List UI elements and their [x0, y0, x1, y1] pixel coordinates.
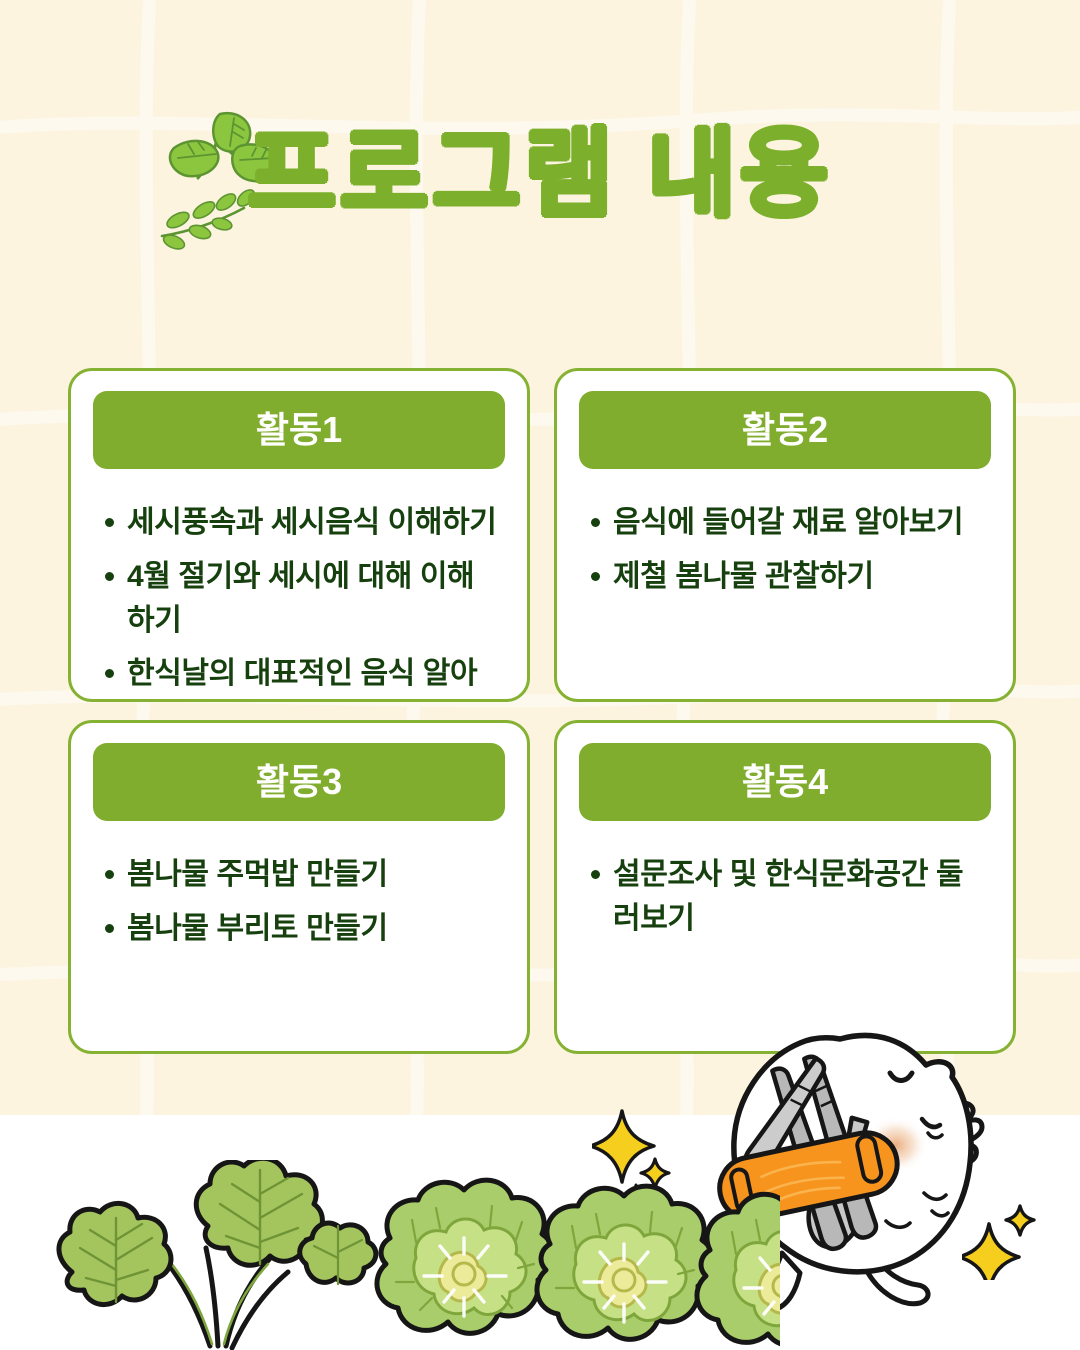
- list-item: 4월 절기와 세시에 대해 이해하기: [101, 555, 501, 643]
- poster-canvas: 프로그램 내용 활동1 세시풍속과 세시음식 이해하기 4월 절기와 세시에 대…: [0, 0, 1080, 1350]
- activity-card-grid: 활동1 세시풍속과 세시음식 이해하기 4월 절기와 세시에 대해 이해하기 한…: [68, 368, 1016, 1054]
- herb-leaf: [59, 1203, 171, 1304]
- activity-card-3[interactable]: 활동3 봄나물 주먹밥 만들기 봄나물 부리토 만들기: [68, 720, 530, 1054]
- card-3-header-label: 활동3: [256, 764, 342, 800]
- card-2-header: 활동2: [579, 391, 991, 469]
- card-1-header-label: 활동1: [256, 412, 342, 448]
- page-header: 프로그램 내용: [0, 100, 1080, 300]
- list-item: 제철 봄나물 관찰하기: [587, 555, 987, 599]
- card-4-list: 설문조사 및 한식문화공간 둘러보기: [587, 853, 987, 941]
- herb-leaf: [300, 1223, 376, 1284]
- list-item: 음식에 들어갈 재료 알아보기: [587, 501, 987, 545]
- card-3-header: 활동3: [93, 743, 505, 821]
- activity-card-1[interactable]: 활동1 세시풍속과 세시음식 이해하기 4월 절기와 세시에 대해 이해하기 한…: [68, 368, 530, 702]
- card-1-body: 세시풍속과 세시음식 이해하기 4월 절기와 세시에 대해 이해하기 한식날의 …: [93, 475, 505, 702]
- vegetable-illustration-group: [20, 1160, 780, 1350]
- card-4-header: 활동4: [579, 743, 991, 821]
- activity-card-2[interactable]: 활동2 음식에 들어갈 재료 알아보기 제철 봄나물 관찰하기: [554, 368, 1016, 702]
- list-item: 세시풍속과 세시음식 이해하기: [101, 501, 501, 545]
- card-2-body: 음식에 들어갈 재료 알아보기 제철 봄나물 관찰하기: [579, 475, 991, 681]
- list-item: 한식날의 대표적인 음식 알아보기: [101, 652, 501, 702]
- card-3-body: 봄나물 주먹밥 만들기 봄나물 부리토 만들기: [93, 827, 505, 1033]
- card-4-header-label: 활동4: [742, 764, 828, 800]
- card-2-header-label: 활동2: [742, 412, 828, 448]
- activity-card-4[interactable]: 활동4 설문조사 및 한식문화공간 둘러보기: [554, 720, 1016, 1054]
- cabbage: [537, 1186, 714, 1339]
- card-1-list: 세시풍속과 세시음식 이해하기 4월 절기와 세시에 대해 이해하기 한식날의 …: [101, 501, 501, 702]
- cabbage: [377, 1180, 554, 1333]
- list-item: 봄나물 부리토 만들기: [101, 907, 501, 951]
- card-4-body: 설문조사 및 한식문화공간 둘러보기: [579, 827, 991, 1033]
- list-item: 설문조사 및 한식문화공간 둘러보기: [587, 853, 987, 941]
- list-item: 봄나물 주먹밥 만들기: [101, 853, 501, 897]
- card-1-header: 활동1: [93, 391, 505, 469]
- card-3-list: 봄나물 주먹밥 만들기 봄나물 부리토 만들기: [101, 853, 501, 951]
- card-2-list: 음식에 들어갈 재료 알아보기 제철 봄나물 관찰하기: [587, 501, 987, 599]
- page-title: 프로그램 내용: [0, 114, 1080, 237]
- cabbage: [697, 1192, 780, 1345]
